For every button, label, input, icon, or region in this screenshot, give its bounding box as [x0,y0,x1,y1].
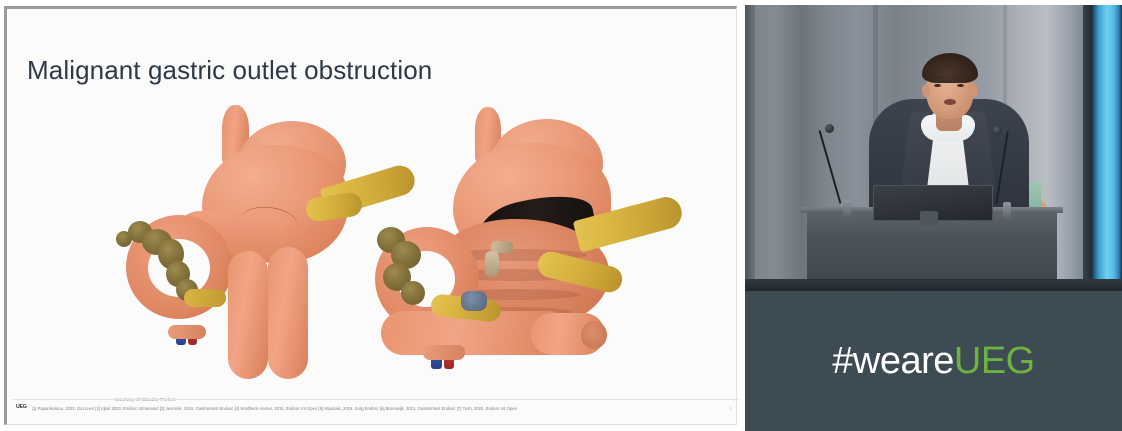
jejunal-limb-one [228,251,268,379]
weareueg-logo-panel: #weareUEG [745,291,1122,431]
jejunal-limb-two [268,247,308,379]
tumor-nodule [116,231,132,247]
slide-panel: Malignant gastric outlet obstruction [0,0,741,431]
speaker-ear-right [970,84,978,97]
vessel-sheath [423,345,465,360]
gastric-outlet-obstruction-external-view-illustration [110,99,410,399]
weareueg-logo: #weareUEG [832,342,1035,380]
pancreatic-duct-shape [184,289,226,307]
ueg-logo-mark: UEG [16,405,27,410]
illustration-stage [15,99,731,399]
slide-footer: UEG [1] Papanikolaou, 2022, Gut Liver [2… [12,399,739,416]
bowel-lumen-opening [581,321,607,349]
speaker-ear-left [922,84,930,97]
logo-suffix: UEG [954,340,1035,382]
speaker-eye-right [957,84,964,87]
speaker-brow-right [956,77,966,79]
backdrop-dark-stripe [1083,5,1092,291]
speaker-eye-left [934,84,941,87]
gastric-outlet-obstruction-cutaway-view-illustration [375,99,705,399]
backdrop-cyan-stripe [1092,5,1122,291]
lymph-node-shape [461,291,487,311]
microphone-head-left [825,124,834,133]
monitor-stand [920,211,938,225]
backdrop-seam [745,5,755,291]
stent-flange-shape [485,251,499,277]
speaker-mouth [944,99,956,105]
speaker-video-feed[interactable] [745,5,1122,291]
speaker-brow-left [933,77,943,79]
logo-prefix: #weare [832,340,954,382]
microphone-base-left [843,200,851,217]
microphone-head-right [993,126,1002,135]
vessel-sheath [168,325,206,339]
presentation-screen: Malignant gastric outlet obstruction [0,0,1122,431]
slide-page-number: 1 [730,406,732,411]
reference-list: [1] Papanikolaou, 2022, Gut Liver [2] Iq… [32,406,517,411]
tumor-nodule [401,281,425,305]
slide-frame: Malignant gastric outlet obstruction [4,6,737,425]
microphone-base-right [1003,202,1011,219]
slide-title: Malignant gastric outlet obstruction [27,55,432,86]
stage-floor [745,279,1122,291]
